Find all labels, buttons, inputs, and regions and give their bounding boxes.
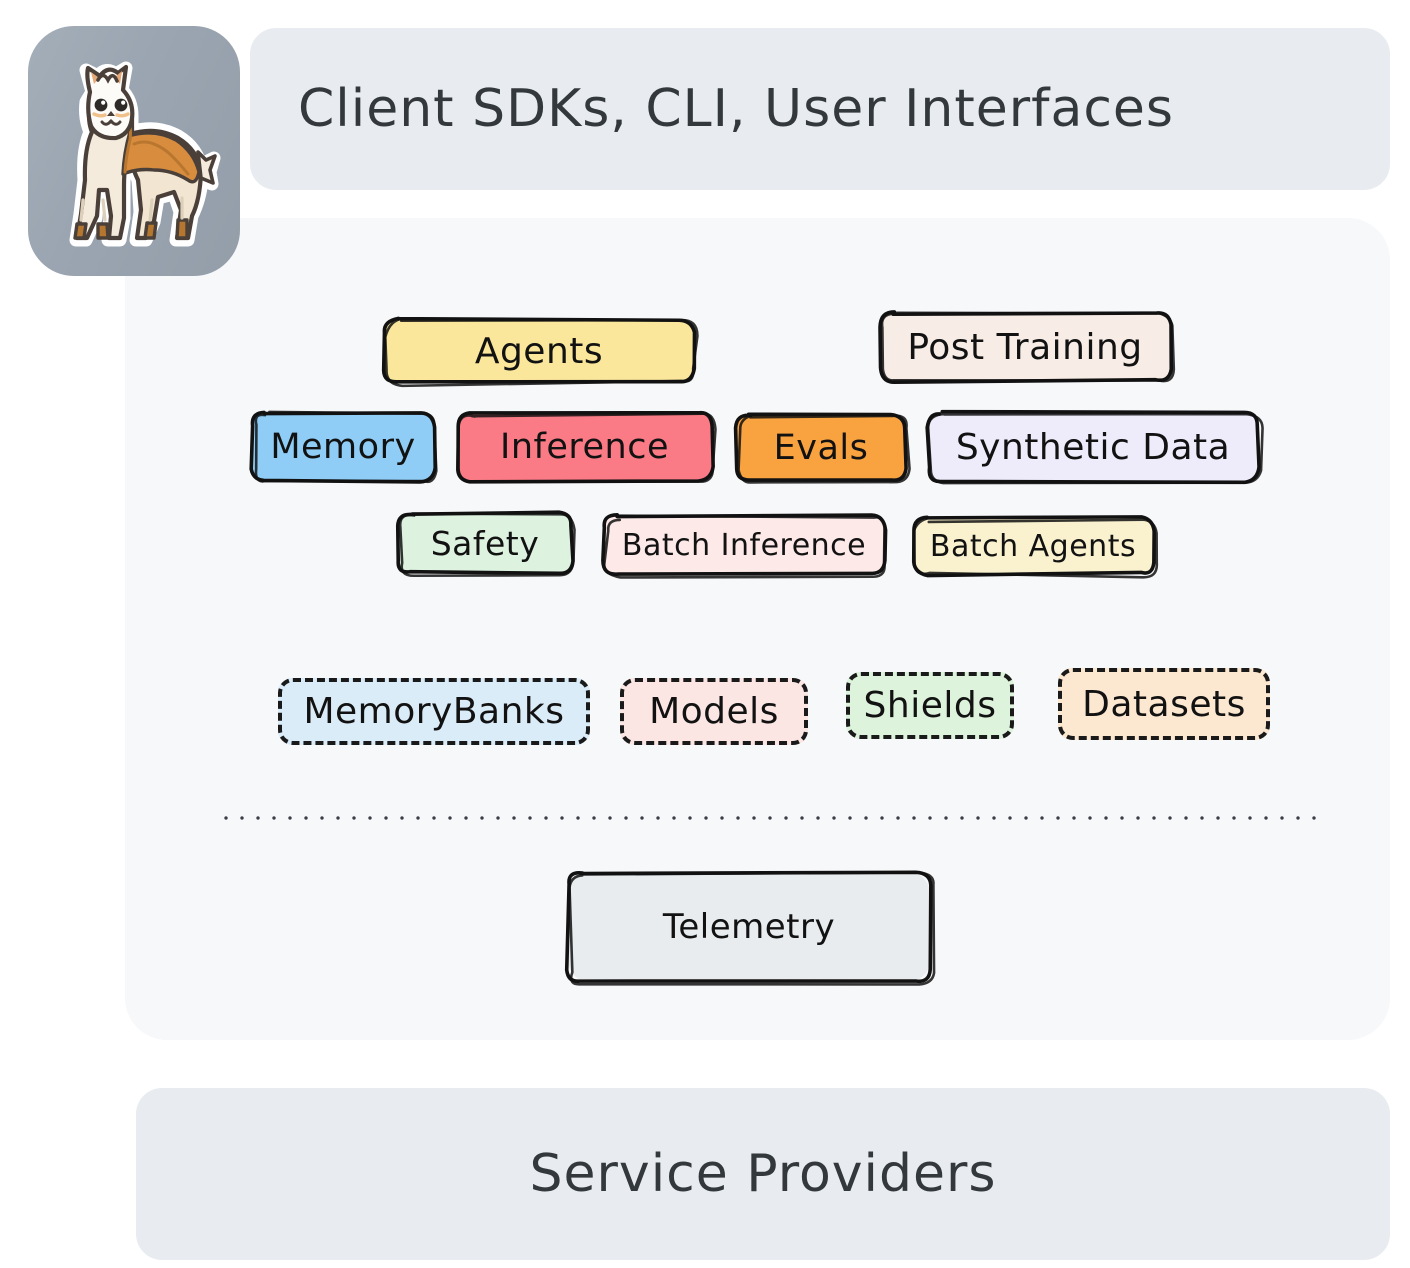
api-node-synthetic-data[interactable]: Synthetic Data [928,413,1258,481]
footer-title: Service Providers [530,1144,997,1204]
agents-label: Agents [475,331,603,372]
batch-inference-label: Batch Inference [622,528,866,563]
models-label: Models [649,691,779,732]
telemetry-label: Telemetry [663,907,835,947]
dotted-divider [218,815,1320,821]
evals-label: Evals [774,428,869,468]
api-node-agents[interactable]: Agents [385,320,693,382]
footer-banner: Service Providers [136,1088,1390,1260]
resource-node-shields[interactable]: Shields [846,672,1014,739]
telemetry-node[interactable]: Telemetry [568,872,930,982]
header-title: Client SDKs, CLI, User Interfaces [298,79,1174,139]
resource-node-datasets[interactable]: Datasets [1058,668,1270,740]
llama-logo-icon [46,40,222,262]
llama-logo-tile [28,26,240,276]
datasets-label: Datasets [1082,684,1246,725]
memory-banks-label: MemoryBanks [303,691,564,732]
batch-agents-label: Batch Agents [930,529,1136,564]
api-node-memory[interactable]: Memory [252,413,434,481]
resource-node-models[interactable]: Models [620,678,808,745]
synthetic-data-label: Synthetic Data [956,427,1230,468]
api-node-safety[interactable]: Safety [398,513,572,573]
resource-node-memory-banks[interactable]: MemoryBanks [278,678,590,745]
api-node-inference[interactable]: Inference [457,413,712,481]
api-node-batch-inference[interactable]: Batch Inference [604,516,884,574]
api-node-evals[interactable]: Evals [737,415,905,481]
api-node-post-training[interactable]: Post Training [880,313,1170,381]
api-node-batch-agents[interactable]: Batch Agents [913,518,1153,574]
post-training-label: Post Training [907,327,1142,368]
inference-label: Inference [500,427,669,467]
memory-label: Memory [270,427,415,467]
shields-label: Shields [864,685,997,726]
safety-label: Safety [431,524,540,563]
header-banner: Client SDKs, CLI, User Interfaces [250,28,1390,190]
